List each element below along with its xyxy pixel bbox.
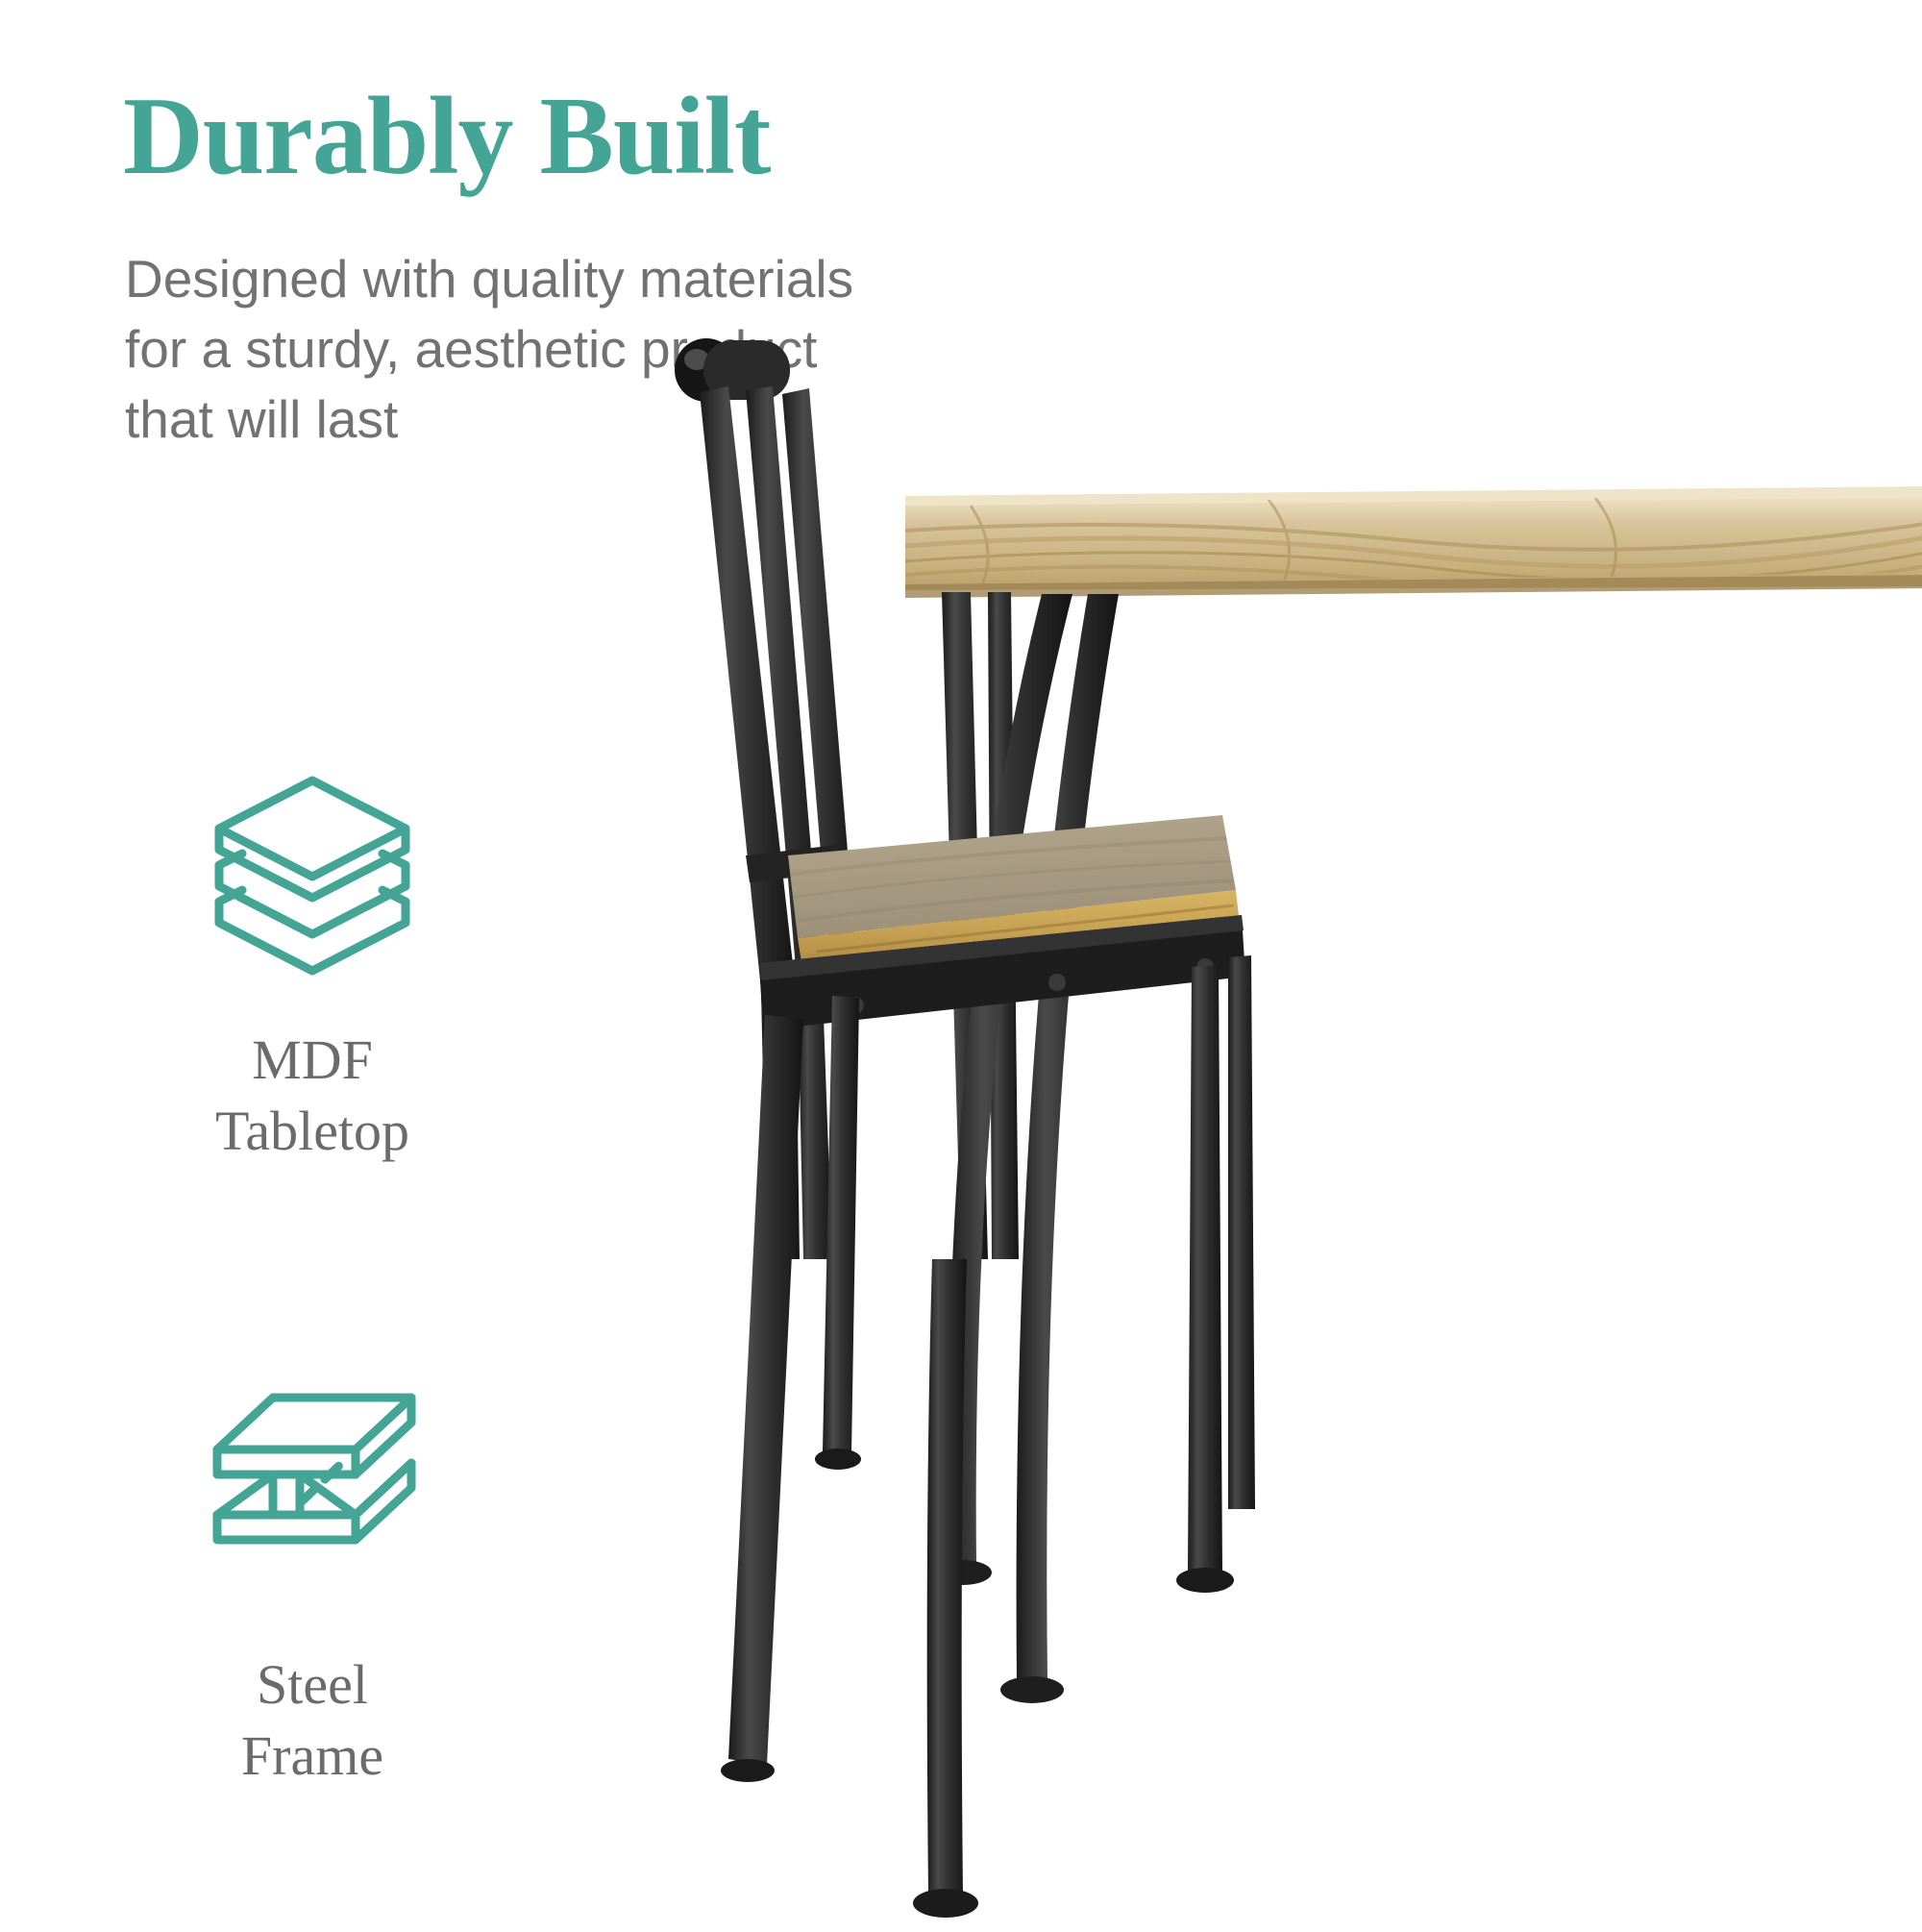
feature-label: MDF Tabletop bbox=[101, 1025, 524, 1167]
feature-mdf-tabletop: MDF Tabletop bbox=[101, 759, 524, 1167]
feature-steel-frame: Steel Frame bbox=[101, 1384, 524, 1792]
tabletop bbox=[905, 486, 1922, 598]
feature-label-line-2: Frame bbox=[101, 1721, 524, 1792]
layers-stack-icon bbox=[101, 759, 524, 980]
feature-label-line-1: Steel bbox=[101, 1649, 524, 1721]
feature-label-line-2: Tabletop bbox=[101, 1096, 524, 1167]
feature-label-line-1: MDF bbox=[101, 1025, 524, 1096]
page-title: Durably Built bbox=[123, 81, 770, 192]
i-beam-icon bbox=[101, 1384, 524, 1605]
subtitle-line-1: Designed with quality materials bbox=[125, 244, 1086, 314]
feature-label: Steel Frame bbox=[101, 1649, 524, 1792]
product-photo bbox=[653, 317, 1922, 1932]
